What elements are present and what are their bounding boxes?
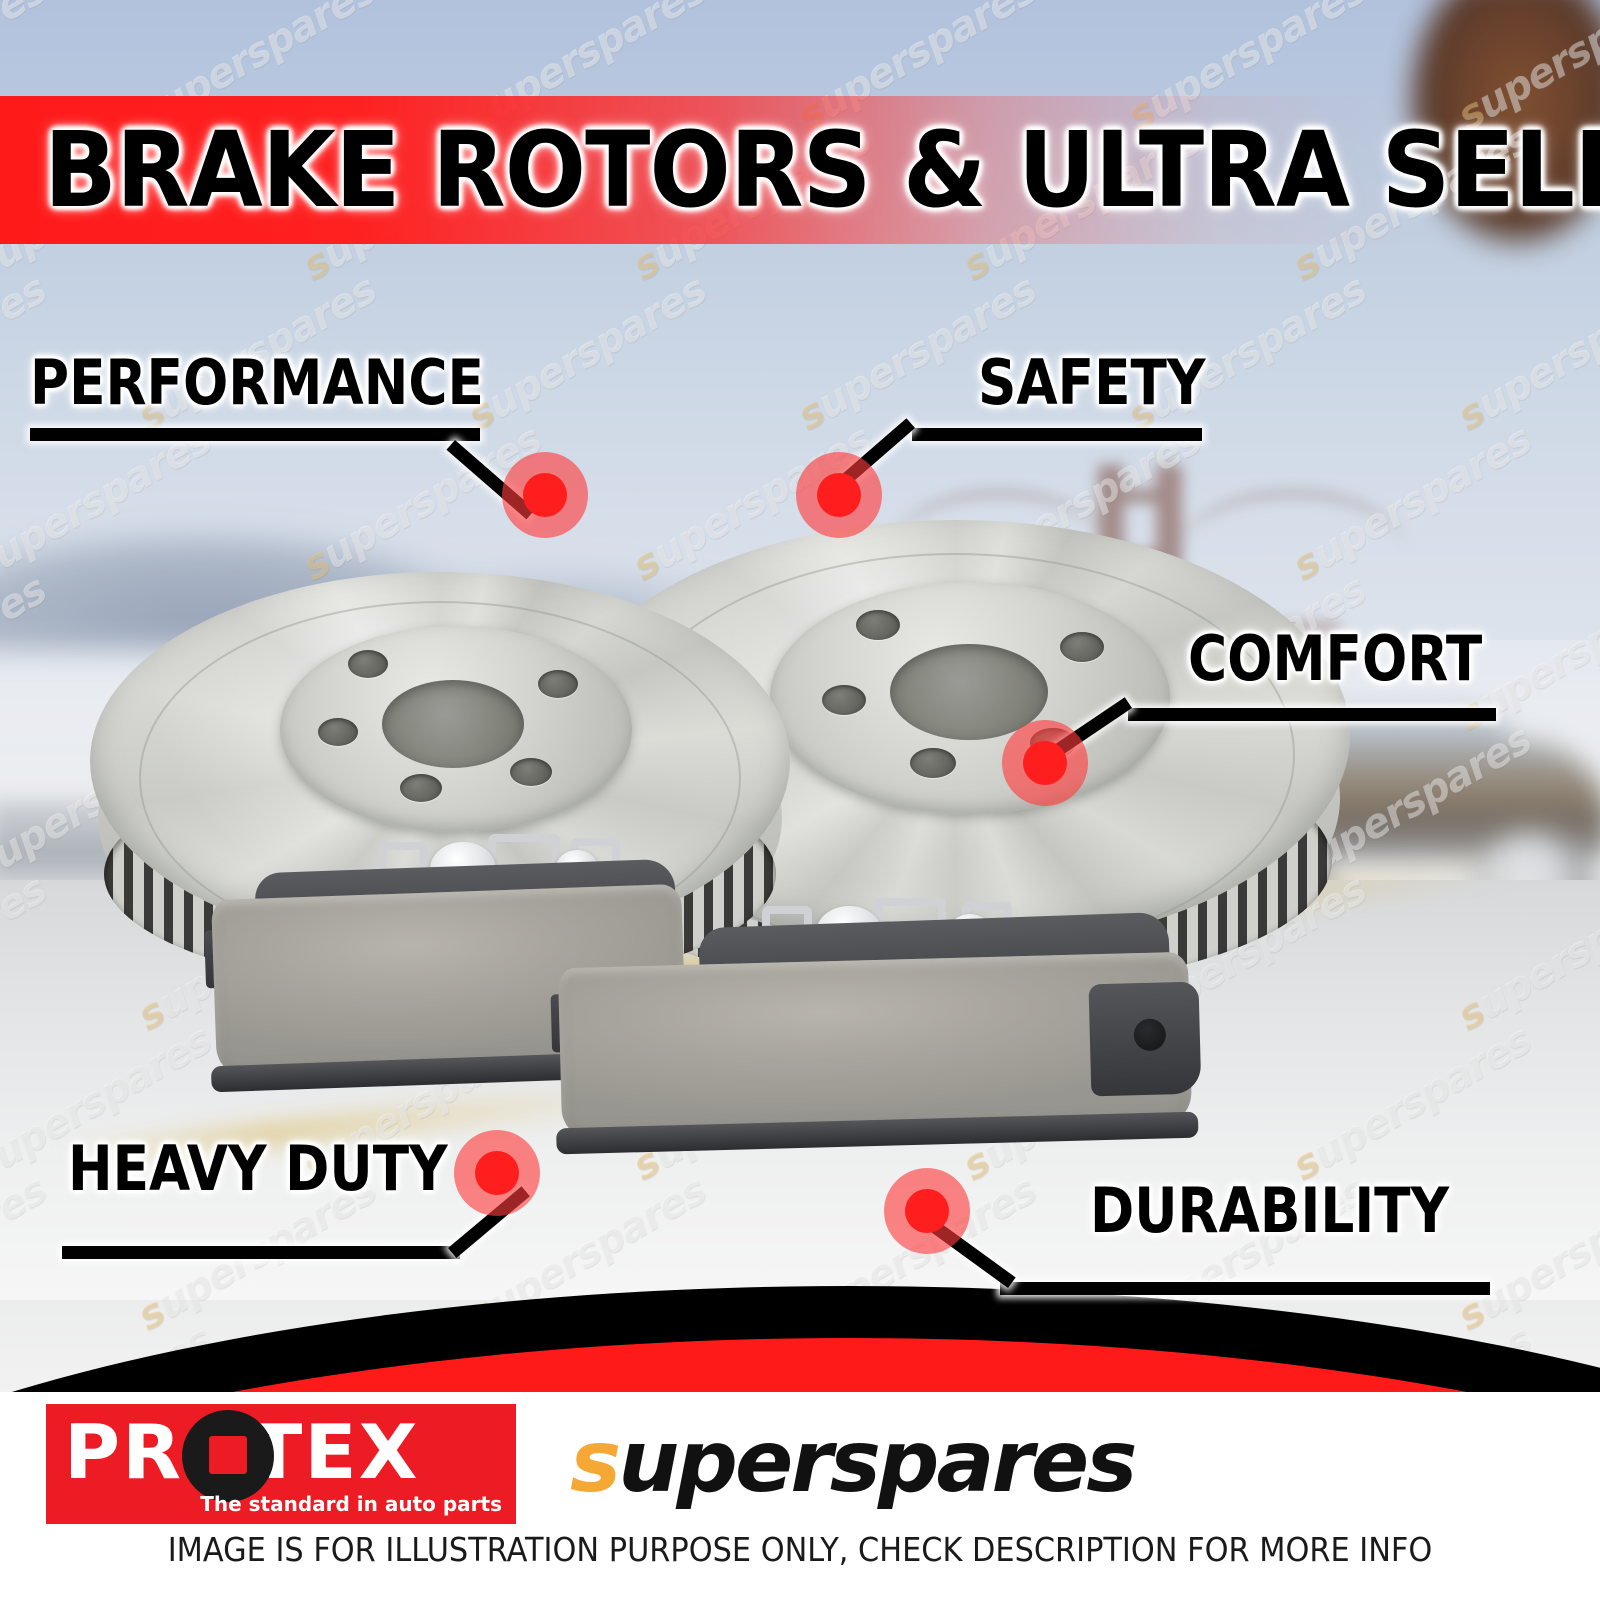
superspares-logo: superspares [570,1410,1134,1514]
product-advertisement-image: supersparessupersparessupersparessupersp… [0,0,1600,1600]
disclaimer-text: IMAGE IS FOR ILLUSTRATION PURPOSE ONLY, … [64,1530,1536,1570]
superspares-word: uperspares [618,1412,1134,1512]
callout-safety-bar [912,428,1202,441]
callout-heavy-duty-bar [62,1246,460,1259]
callout-comfort-label: COMFORT [1188,628,1482,690]
callout-comfort-dot [1002,720,1088,806]
protex-word-before-o: PR [64,1408,183,1496]
protex-word-after-o: TEX [250,1408,420,1496]
protex-o-icon [182,1410,274,1502]
callout-safety-label: SAFETY [978,352,1205,414]
protex-logo: PROTEX The standard in auto parts [46,1404,516,1524]
brake-pad-right [558,952,1192,1138]
callout-performance-dot [502,452,588,538]
callout-durability-dot [884,1168,970,1254]
protex-tagline: The standard in auto parts [200,1492,502,1516]
callout-comfort-bar [1128,708,1496,721]
callout-durability-label: DURABILITY [1090,1180,1449,1242]
callout-heavy-duty-dot [454,1130,540,1216]
callout-performance-label: PERFORMANCE [30,352,484,414]
callout-heavy-duty-label: HEAVY DUTY [68,1138,448,1200]
page-title: BRAKE ROTORS & ULTRA SELECT PADS [44,104,1442,236]
superspares-accent-letter: s [570,1412,618,1512]
callout-performance-bar [30,428,480,441]
callout-safety-dot [796,452,882,538]
callout-durability-bar [1000,1282,1490,1295]
